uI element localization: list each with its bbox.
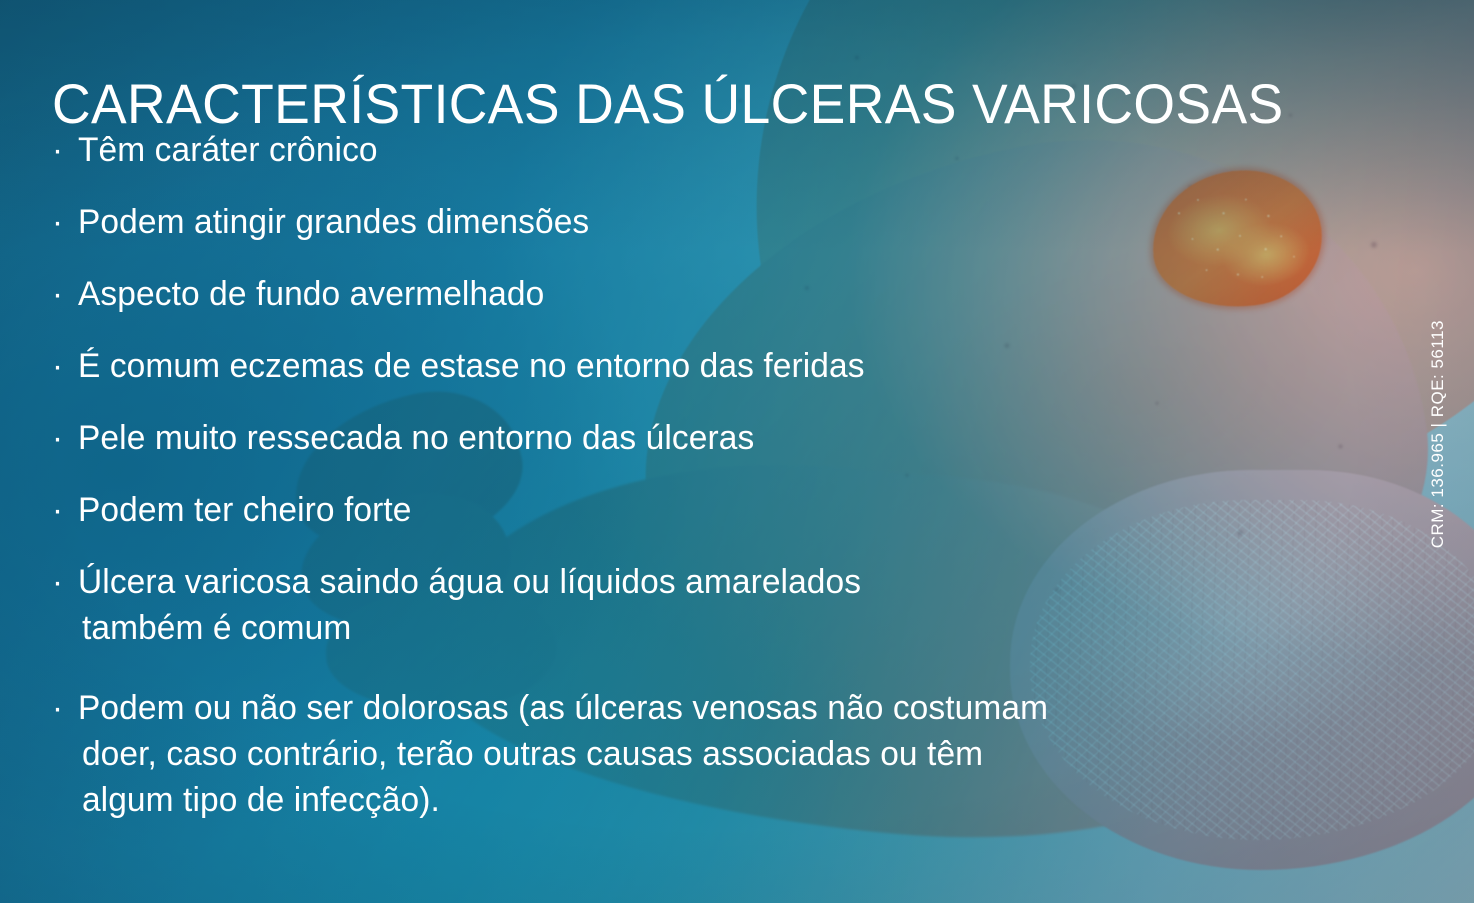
bullet-dot-icon: ·: [50, 685, 78, 731]
list-item: · Aspecto de fundo avermelhado: [50, 271, 1450, 317]
bullet-dot-icon: ·: [50, 487, 78, 533]
list-item-text: Aspecto de fundo avermelhado: [78, 271, 1429, 317]
list-item: · Pele muito ressecada no entorno das úl…: [50, 415, 1450, 461]
list-item: · É comum eczemas de estase no entorno d…: [50, 343, 1450, 389]
bullet-dot-icon: ·: [50, 343, 78, 389]
page-title: CARACTERÍSTICAS DAS ÚLCERAS VARICOSAS: [52, 76, 1284, 132]
bullet-dot-icon: ·: [50, 271, 78, 317]
list-item-text: É comum eczemas de estase no entorno das…: [78, 343, 1429, 389]
characteristics-list: · Têm caráter crônico · Podem atingir gr…: [50, 127, 1450, 823]
list-item: · Podem ter cheiro forte: [50, 487, 1450, 533]
list-item-text: Podem atingir grandes dimensões: [78, 199, 1429, 245]
credential-text: CRM: 136.965 | RQE: 56113: [1428, 320, 1448, 548]
list-item: · Têm caráter crônico: [50, 127, 1450, 173]
bullet-dot-icon: ·: [50, 559, 78, 605]
poster-content: CARACTERÍSTICAS DAS ÚLCERAS VARICOSAS · …: [0, 0, 1474, 903]
bullet-dot-icon: ·: [50, 415, 78, 461]
bullet-dot-icon: ·: [50, 199, 78, 245]
list-item-text: Úlcera varicosa saindo água ou líquidos …: [78, 559, 1429, 651]
list-item-text: Têm caráter crônico: [78, 127, 1429, 173]
list-item: · Podem ou não ser dolorosas (as úlceras…: [50, 685, 1450, 823]
list-item-text: Podem ou não ser dolorosas (as úlceras v…: [78, 685, 1429, 823]
list-item-text: Podem ter cheiro forte: [78, 487, 1429, 533]
list-item: · Podem atingir grandes dimensões: [50, 199, 1450, 245]
list-item: · Úlcera varicosa saindo água ou líquido…: [50, 559, 1450, 651]
list-item-text: Pele muito ressecada no entorno das úlce…: [78, 415, 1429, 461]
poster-canvas: CARACTERÍSTICAS DAS ÚLCERAS VARICOSAS · …: [0, 0, 1474, 903]
bullet-dot-icon: ·: [50, 127, 78, 173]
